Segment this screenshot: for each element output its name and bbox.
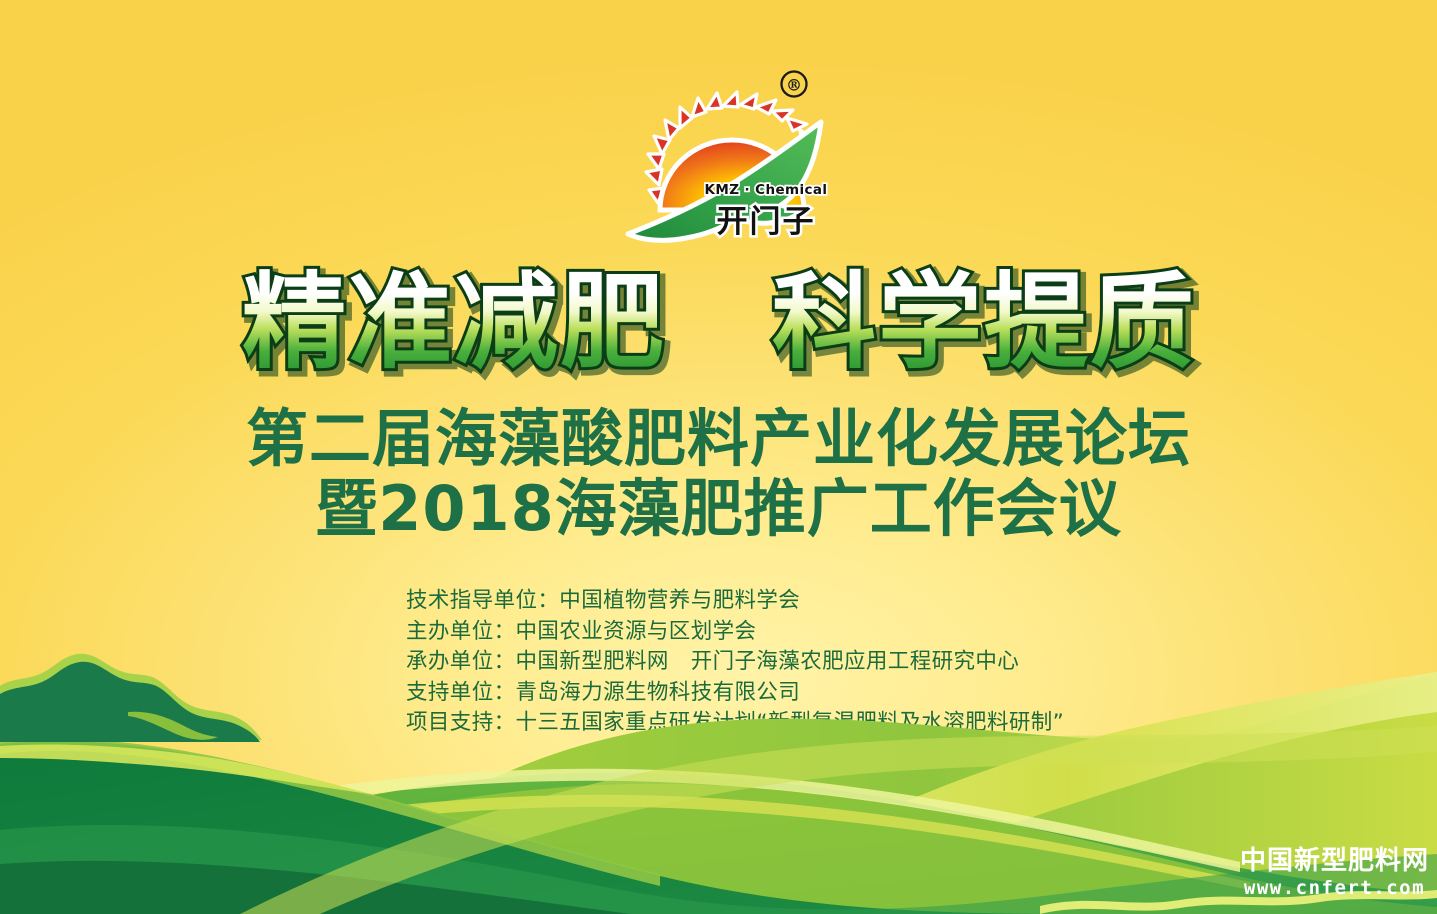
registered-trademark-icon: ® [782, 72, 807, 97]
subtitle-block: 第二届海藻酸肥料产业化发展论坛 暨2018海藻肥推广工作会议 [0, 404, 1437, 544]
conference-banner: ® KMZ · Chemical 开门子 精准减肥 科学提质 [0, 0, 1437, 914]
subtitle-line-1: 第二届海藻酸肥料产业化发展论坛 [0, 404, 1437, 474]
site-watermark: 中国新型肥料网 www.cnfert.com [1240, 846, 1429, 900]
headline: 精准减肥 科学提质 精准减肥 科学提质 [0, 262, 1437, 392]
watermark-site-name: 中国新型肥料网 [1240, 846, 1429, 876]
landscape-graphic [0, 594, 1437, 914]
brand-latin-text: KMZ · Chemical [705, 182, 828, 198]
registered-mark-glyph: ® [786, 76, 802, 95]
watermark-url: www.cnfert.com [1240, 876, 1429, 900]
brand-cn-text: 开门子 [717, 204, 816, 240]
kaimenzi-logo: ® KMZ · Chemical 开门子 [618, 62, 843, 247]
headline-text: 精准减肥 科学提质 [241, 261, 1195, 383]
subtitle-line-2: 暨2018海藻肥推广工作会议 [0, 474, 1437, 544]
